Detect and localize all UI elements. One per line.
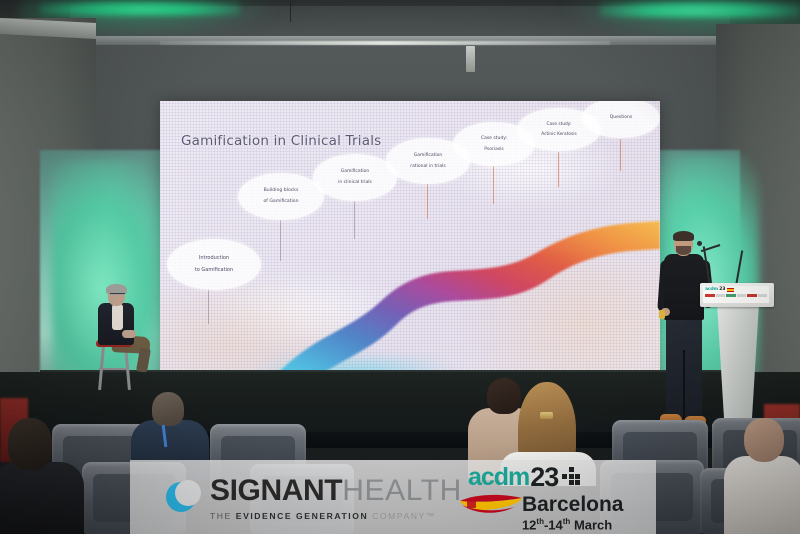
hanging-speaker [466, 46, 475, 72]
step-6-line1: Case study: [537, 122, 580, 127]
lectern-year-text: 23 [719, 287, 725, 293]
projection-screen: Gamification in Clinical Trials Introduc… [160, 101, 660, 392]
presenter-hair [673, 231, 694, 241]
audience-member-head [8, 418, 52, 470]
teal-glow-left [52, 160, 172, 395]
presenter-torso [664, 254, 704, 320]
step-4-line2: rational in trials [406, 164, 449, 169]
step-5-line2: Psoriasis [477, 147, 511, 152]
presenter-clicker [659, 310, 665, 319]
signant-health-logo: SIGNANTHEALTH THE EVIDENCE GENERATION CO… [130, 474, 462, 521]
acdm-city: Barcelona [522, 494, 624, 515]
audience-member-head [152, 392, 184, 426]
step-4-stem [427, 184, 428, 219]
acdm-dates: 12th-14th March [522, 517, 624, 532]
panelist-glasses [110, 293, 125, 296]
step-3-stem [354, 201, 355, 239]
step-6-stem [558, 152, 559, 187]
signant-tagline: THE EVIDENCE GENERATION COMPANY™ [210, 511, 462, 521]
acdm-wordmark: acdm [468, 463, 529, 492]
signant-logo-icon [166, 480, 200, 514]
step-1-line2: to Gamification [191, 267, 237, 273]
step-1-stem [208, 289, 209, 324]
panelist-shirt [112, 304, 123, 330]
step-2-stem [280, 220, 281, 261]
step-3-line2: in clinical trials [334, 180, 376, 185]
step-7-stem [620, 139, 621, 171]
soffit-light-bar [160, 41, 610, 45]
stool-rung [99, 368, 128, 370]
step-3-line1: Gamification [334, 169, 376, 174]
presenter-leg-gap [683, 350, 685, 418]
step-2-line1: Building blocks [259, 188, 302, 194]
audience-member-body [724, 456, 800, 534]
panelist-hands [122, 330, 136, 338]
signant-name-light: HEALTH [342, 474, 462, 508]
step-1-line1: Introduction [191, 255, 237, 261]
hair-clip-icon [540, 412, 553, 419]
step-5-stem [493, 166, 494, 204]
ceiling-wire [290, 0, 291, 22]
lectern-branding-sign: acdm 23 [703, 286, 769, 303]
signant-name-bold: SIGNANT [210, 474, 342, 508]
step-2-bubble: Building blocks of Gamification [238, 173, 324, 220]
green-led-strip-right [600, 0, 800, 18]
step-3-bubble: Gamification in clinical trials [313, 154, 397, 201]
microphone-head-icon [697, 241, 702, 246]
step-7-line1: Questions [606, 115, 636, 120]
step-6-line2: Actinic Keratosis [537, 132, 580, 137]
acdm-dot-grid-icon [562, 467, 580, 485]
conference-room-photo: Gamification in Clinical Trials Introduc… [0, 0, 800, 534]
audience-member-body [0, 462, 84, 534]
audience-member-head [744, 418, 784, 462]
acdm23-event-logo: acdm 23 Barcelona 12th-14th March [462, 462, 656, 532]
acdm-year: 23 [530, 462, 558, 493]
lectern-sponsor-strip [705, 294, 767, 297]
lectern-acdm-text: acdm [705, 287, 718, 293]
step-2-line2: of Gamification [259, 199, 302, 205]
audience-member-head [487, 378, 521, 414]
slide-title: Gamification in Clinical Trials [181, 133, 381, 149]
green-led-strip-left [40, 0, 240, 16]
step-1-bubble: Introduction to Gamification [167, 239, 261, 290]
bottom-sponsor-banner: SIGNANTHEALTH THE EVIDENCE GENERATION CO… [130, 460, 656, 534]
lectern-flag-icon [727, 288, 734, 292]
step-4-line1: Gamification [406, 153, 449, 158]
step-5-line1: Case study: [477, 136, 511, 141]
presenter-beard [676, 246, 691, 255]
